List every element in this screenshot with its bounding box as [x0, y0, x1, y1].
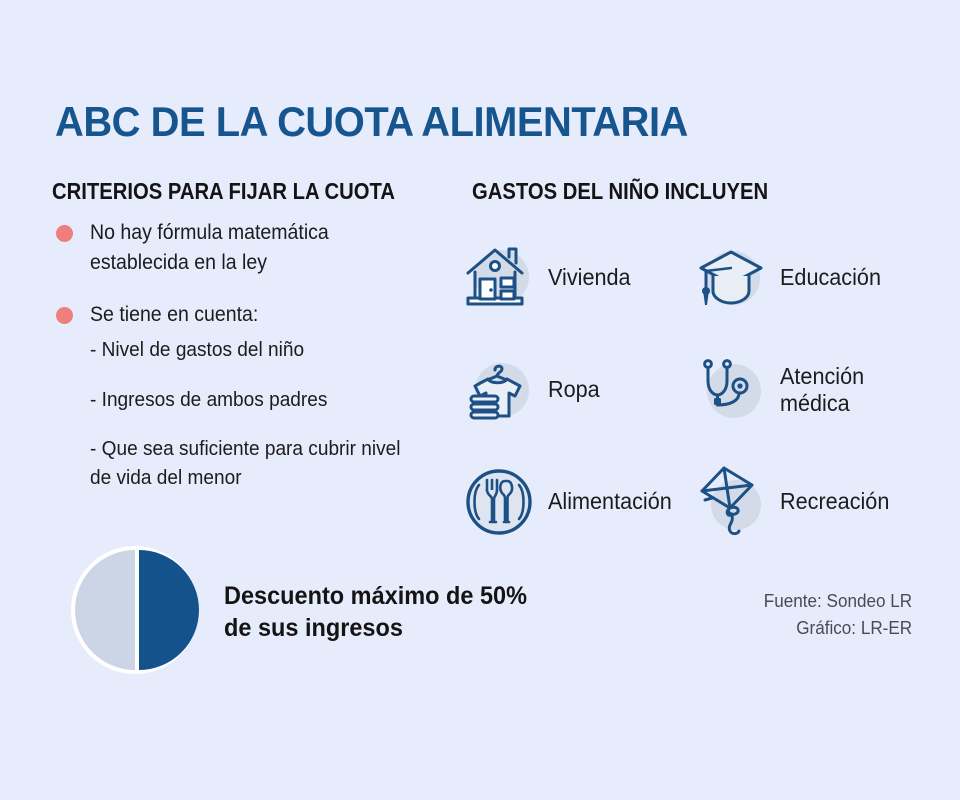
section-heading-gastos: GASTOS DEL NIÑO INCLUYEN — [472, 178, 768, 205]
criteria-subtext: - Que sea suficiente para cubrir nivel d… — [90, 434, 427, 492]
list-item: Se tiene en cuenta: — [52, 300, 452, 330]
bullet-dot-icon — [56, 225, 73, 242]
plate-cutlery-icon — [462, 465, 536, 539]
graduation-cap-icon — [694, 241, 768, 315]
criteria-text: Se tiene en cuenta: — [90, 300, 427, 330]
expense-grid: Vivienda Educación — [462, 222, 932, 558]
expense-label: Alimentación — [548, 488, 672, 515]
expense-item-recreacion: Recreación — [694, 446, 932, 558]
credits-block: Fuente: Sondeo LR Gráfico: LR-ER — [764, 588, 912, 642]
discount-text: Descuento máximo de 50% de sus ingresos — [224, 580, 527, 644]
expense-item-atencion-medica: Atención médica — [694, 334, 932, 446]
expense-label: Vivienda — [548, 264, 631, 291]
kite-icon — [694, 465, 768, 539]
pie-slice-dark — [139, 550, 199, 670]
list-item: No hay fórmula matemática establecida en… — [52, 218, 452, 278]
house-icon — [462, 241, 536, 315]
tshirt-hanger-icon — [462, 353, 536, 427]
page-title: ABC DE LA CUOTA ALIMENTARIA — [55, 100, 688, 144]
criteria-subtext: - Ingresos de ambos padres — [90, 385, 427, 414]
list-item: - Ingresos de ambos padres — [52, 385, 452, 414]
expense-item-alimentacion: Alimentación — [462, 446, 694, 558]
expense-label: Recreación — [780, 488, 889, 515]
infographic-canvas: ABC DE LA CUOTA ALIMENTARIA CRITERIOS PA… — [0, 0, 960, 800]
bullet-dot-icon — [56, 307, 73, 324]
criteria-list: No hay fórmula matemática establecida en… — [52, 218, 452, 512]
pie-chart-half-icon — [68, 543, 202, 677]
expense-label: Educación — [780, 264, 881, 291]
criteria-text: No hay fórmula matemática establecida en… — [90, 218, 427, 278]
expense-item-vivienda: Vivienda — [462, 222, 694, 334]
stethoscope-icon — [694, 353, 768, 427]
expense-label: Atención médica — [780, 363, 864, 417]
expense-label: Ropa — [548, 376, 600, 403]
criteria-subtext: - Nivel de gastos del niño — [90, 335, 427, 364]
expense-item-ropa: Ropa — [462, 334, 694, 446]
list-item: - Que sea suficiente para cubrir nivel d… — [52, 434, 452, 492]
list-item: - Nivel de gastos del niño — [52, 335, 452, 364]
credit-source: Fuente: Sondeo LR — [764, 588, 912, 615]
credit-graphic: Gráfico: LR-ER — [764, 615, 912, 642]
section-heading-criterios: CRITERIOS PARA FIJAR LA CUOTA — [52, 178, 395, 205]
expense-item-educacion: Educación — [694, 222, 932, 334]
pie-slice-light — [75, 550, 135, 670]
